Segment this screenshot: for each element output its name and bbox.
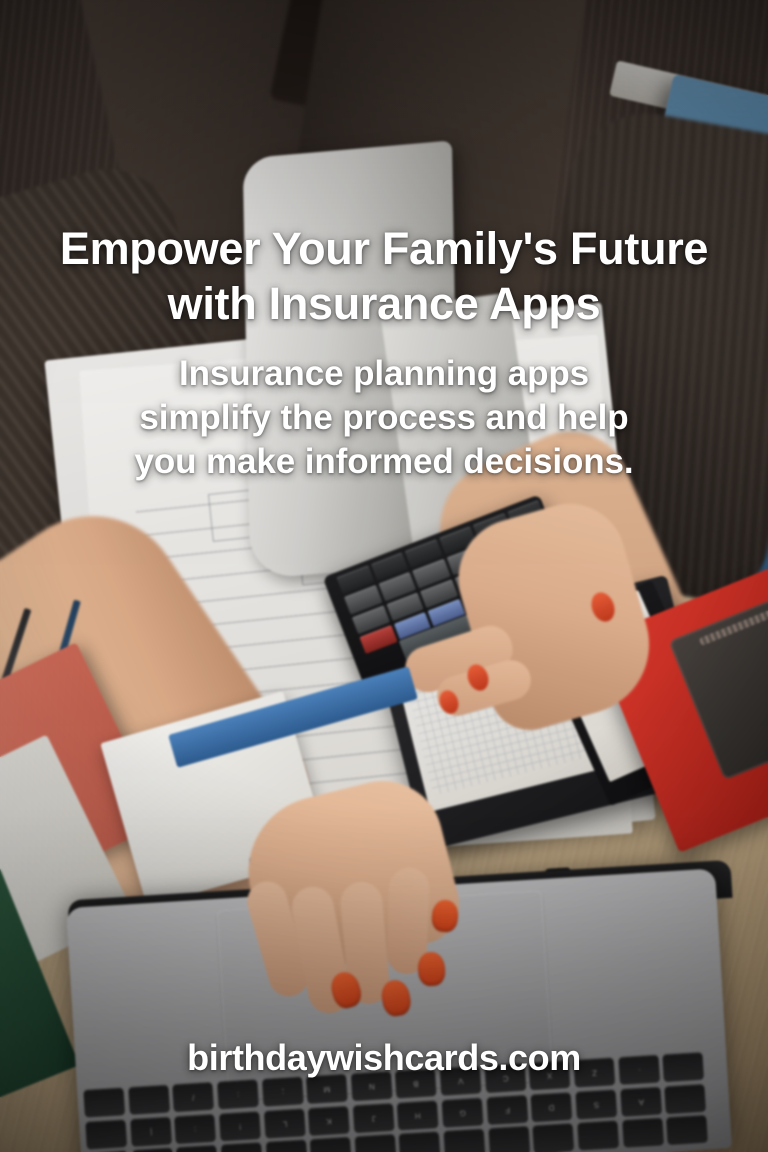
subhead-line-2: simplify the process and help — [70, 396, 698, 440]
page-title: Empower Your Family's Future with Insura… — [20, 222, 748, 332]
subhead-line-1: Insurance planning apps — [70, 352, 698, 396]
headline-line-2: with Insurance Apps — [20, 277, 748, 332]
subhead-line-3: you make informed decisions. — [70, 440, 698, 484]
poster-canvas: /:;MNBVCXZ· |:!LKJHGFDSA Empower Your Fa… — [0, 0, 768, 1152]
site-watermark: birthdaywishcards.com — [0, 1037, 768, 1079]
page-subtitle: Insurance planning apps simplify the pro… — [70, 352, 698, 484]
text-overlay: Empower Your Family's Future with Insura… — [0, 0, 768, 1152]
headline-line-1: Empower Your Family's Future — [20, 222, 748, 277]
